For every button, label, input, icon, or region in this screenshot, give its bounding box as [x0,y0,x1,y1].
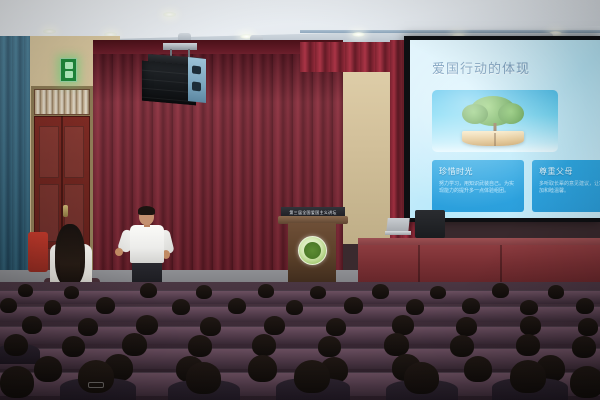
door-transom-lattice [34,89,90,115]
audience-head [392,315,414,335]
side-curtain-blue-shading [0,36,30,286]
slide-card-right: 尊重父母 多听取长辈的意见建议，让家庭更加和睦温馨。 [532,160,600,212]
audience-head [404,362,439,394]
audience-head [122,333,147,356]
speaker-mount-bracket [163,43,197,50]
presenter-left-hand [115,248,123,256]
open-book [462,131,524,146]
audience-head [406,299,424,315]
audience-glasses-icon [88,382,104,388]
audience-head [186,362,221,394]
audience-head [372,284,389,299]
school-crest-inner [304,242,321,259]
audience-head [136,315,158,335]
door-carving-top-left [39,126,59,178]
audience-head [430,286,446,299]
audience-head [492,283,509,298]
audience-head [62,336,85,357]
slide-card-left-body: 努力学习，用知识武装自己。为实现能力的提升多一点体验组团。 [439,181,517,195]
audience-head [310,286,326,299]
exit-sign [60,58,77,82]
podium-banner-text: 第三届全国爱国主义讲坛 [289,210,336,216]
audience-head [18,284,33,297]
red-object-backstage [28,232,48,272]
audience-head [4,334,28,356]
exit-sign-glyph-bottom [65,71,73,78]
audience-head [264,316,285,335]
audience-head [44,300,61,315]
audience-head [576,298,594,314]
audience-head [96,297,115,314]
table-panel-seam-2 [500,245,502,285]
downlight-3 [163,12,176,17]
table-panel-seam-1 [418,245,420,285]
book-spine [494,133,496,146]
exit-sign-glyph-top [65,62,73,69]
audience-head [248,355,277,382]
audience-head [384,333,409,356]
audience-head [64,286,79,299]
audience-head [196,285,212,299]
projection-screen[interactable]: 爱国行动的体现 珍惜时光 努力学习，用知识武装自己。为实现能力的提升多一点体验组… [410,40,600,218]
audience-head [516,334,540,356]
audience-head [318,336,341,357]
audience-head [344,297,363,314]
auditorium-scene: 爱国行动的体现 珍惜时光 努力学习，用知识武装自己。为实现能力的提升多一点体验组… [0,0,600,400]
audience-head [294,360,330,393]
audience-head [464,356,492,382]
audience-head [78,318,98,336]
audience-head [34,356,62,382]
audience-head [0,366,34,398]
audience-head [520,300,538,315]
slide-card-right-heading: 尊重父母 [539,166,600,177]
downlight-1 [43,29,56,34]
audience-head [22,316,42,334]
tree-foliage-right [498,103,524,124]
slide-card-right-body: 多听取长辈的意见建议，让家庭更加和睦温馨。 [539,181,600,195]
audience-head [572,336,596,358]
audience-head [570,366,600,398]
speaker-port-upper [192,65,201,74]
audience-head [258,284,274,298]
stage-table [358,245,600,285]
laptop-base [385,231,411,235]
audience-head [520,316,541,335]
audience-head [252,334,276,356]
tree-foliage-left [462,104,488,124]
audience-head [0,298,17,313]
slide-hero-image [432,90,558,152]
audience-head [456,317,477,336]
audience-head [326,318,346,336]
audience-head [450,335,474,357]
audience-head [188,335,212,357]
downlight-5 [352,32,365,37]
monitor-icon [415,210,445,238]
audience-head [172,299,190,315]
slide-card-left: 珍惜时光 努力学习，用知识武装自己。为实现能力的提升多一点体验组团。 [432,160,524,212]
slide-card-left-heading: 珍惜时光 [439,166,517,177]
audience-head [78,360,114,393]
audience-head [462,298,480,314]
laptop-icon [386,218,409,232]
seated-person-hair-front [60,228,80,288]
speaker-side-panel [188,57,206,103]
audience-head [228,298,246,314]
audience-head [548,285,564,299]
door-carving-top-right [64,126,84,178]
audience-head [510,360,546,393]
audience-head [286,300,303,315]
audience-head [578,318,598,336]
door-handle[interactable] [63,205,68,217]
audience-head [140,283,157,298]
presenter-shirt [130,225,164,263]
slide-title: 爱国行动的体现 [432,58,530,77]
audience-area [0,282,600,400]
speaker-port-lower [192,81,201,91]
audience-head [200,317,221,336]
presenter-hair [138,206,155,215]
